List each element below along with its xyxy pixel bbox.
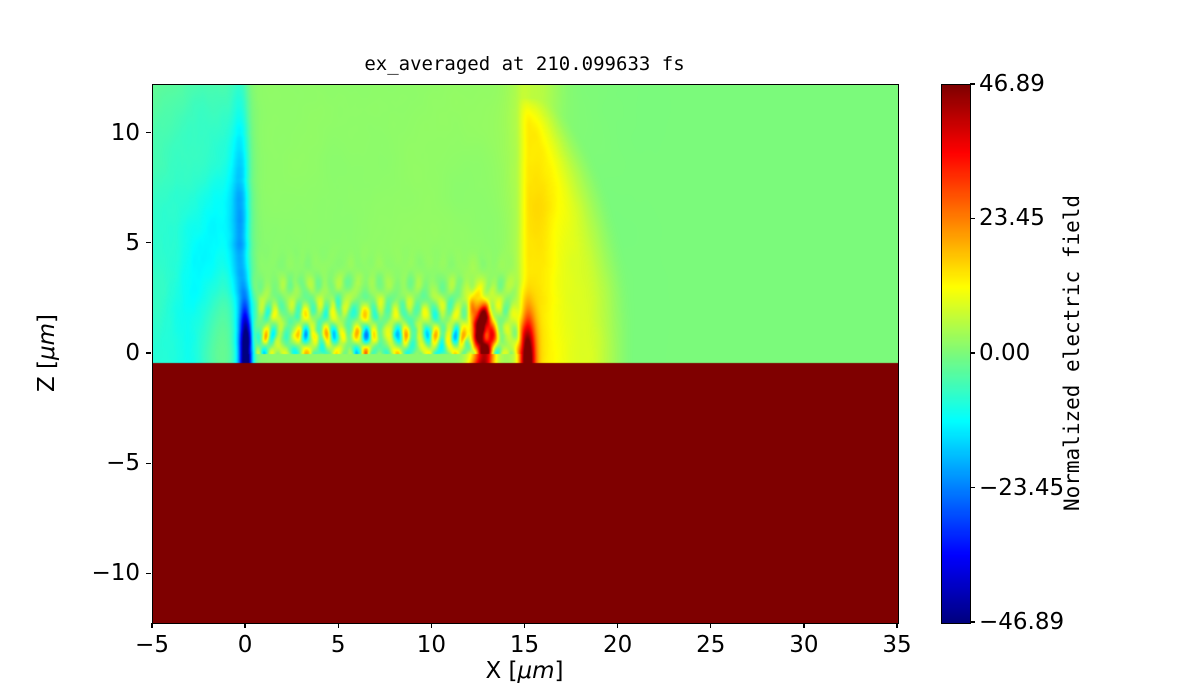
x-axis-label-units: μm <box>518 658 555 684</box>
colorbar-tick-label: 0.00 <box>979 340 1030 366</box>
colorbar-tick-mark <box>970 218 975 219</box>
y-tick-mark <box>146 463 151 464</box>
figure-canvas: ex_averaged at 210.099633 fs −5051015202… <box>0 0 1200 700</box>
y-axis-label-units: μm <box>34 323 60 360</box>
x-tick-mark <box>338 623 339 628</box>
colorbar-tick-label: 46.89 <box>979 71 1045 97</box>
y-tick-mark <box>146 132 151 133</box>
x-axis-label: X [μm] <box>152 658 897 684</box>
x-tick-label: 20 <box>603 632 632 658</box>
x-tick-label: 30 <box>789 632 818 658</box>
x-axis-label-suffix: ] <box>555 658 564 684</box>
heatmap-axes[interactable] <box>152 84 899 624</box>
colorbar-tick-mark <box>970 83 975 84</box>
colorbar-label: Normalized electric field <box>1060 195 1084 511</box>
x-tick-mark <box>431 623 432 628</box>
x-axis-label-prefix: X [ <box>485 658 517 684</box>
x-tick-label: 0 <box>238 632 253 658</box>
x-tick-mark <box>524 623 525 628</box>
colorbar[interactable] <box>941 84 971 624</box>
x-tick-mark <box>617 623 618 628</box>
y-tick-mark <box>146 352 151 353</box>
y-axis-label-suffix: ] <box>34 314 60 323</box>
x-tick-label: 5 <box>331 632 346 658</box>
x-tick-mark <box>710 623 711 628</box>
y-axis-label-prefix: Z [ <box>34 360 60 392</box>
y-axis-label-container: Z [μm] <box>28 84 66 622</box>
colorbar-tick-mark <box>970 487 975 488</box>
y-tick-mark <box>146 573 151 574</box>
x-tick-label: −5 <box>135 632 169 658</box>
colorbar-tick-label: 23.45 <box>979 205 1045 231</box>
x-tick-mark <box>803 623 804 628</box>
page-title: ex_averaged at 210.099633 fs <box>152 52 897 76</box>
x-tick-mark <box>896 623 897 628</box>
x-tick-label: 15 <box>510 632 539 658</box>
x-tick-mark <box>244 623 245 628</box>
x-tick-label: 10 <box>417 632 446 658</box>
field-heatmap-image <box>153 85 898 623</box>
colorbar-tick-mark <box>970 352 975 353</box>
x-tick-label: 35 <box>882 632 911 658</box>
colorbar-tick-mark <box>970 621 975 622</box>
x-tick-label: 25 <box>696 632 725 658</box>
x-tick-mark <box>151 623 152 628</box>
colorbar-label-container: Normalized electric field <box>1052 84 1092 622</box>
y-tick-mark <box>146 242 151 243</box>
colorbar-gradient <box>942 85 970 623</box>
y-axis-label: Z [μm] <box>34 314 60 392</box>
